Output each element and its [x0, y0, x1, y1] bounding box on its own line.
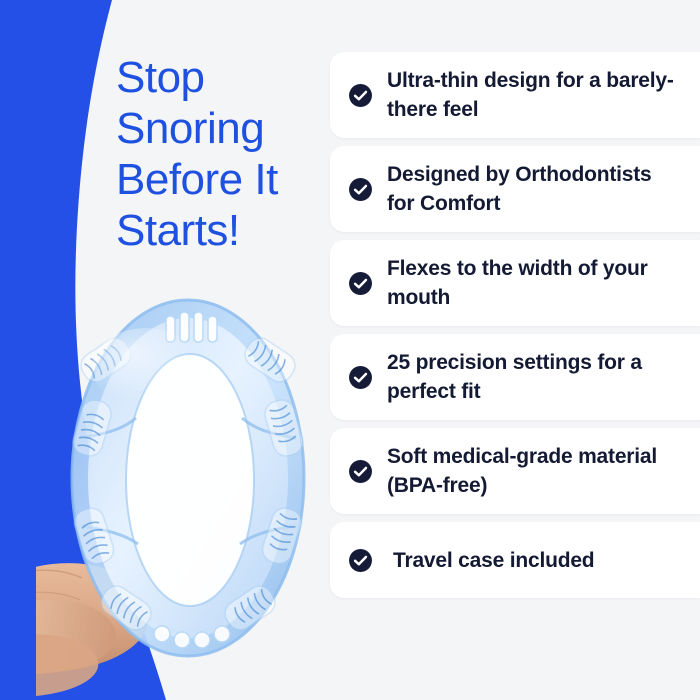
feature-list: Ultra-thin design for a barely-there fee…: [330, 52, 700, 598]
feature-item-precision-settings[interactable]: 25 precision settings for a perfect fit: [330, 334, 700, 420]
check-circle-icon: [348, 83, 373, 108]
feature-label: Flexes to the width of your mouth: [387, 254, 682, 312]
feature-item-medical-grade-material[interactable]: Soft medical-grade material (BPA-free): [330, 428, 700, 514]
feature-item-ultra-thin[interactable]: Ultra-thin design for a barely-there fee…: [330, 52, 700, 138]
promo-canvas: Stop Snoring Before It Starts!: [0, 0, 700, 700]
check-circle-icon: [348, 548, 373, 573]
check-circle-icon: [348, 177, 373, 202]
feature-item-orthodontist-designed[interactable]: Designed by Orthodontists for Comfort: [330, 146, 700, 232]
feature-label: Ultra-thin design for a barely-there fee…: [387, 66, 682, 124]
feature-item-flexes-width[interactable]: Flexes to the width of your mouth: [330, 240, 700, 326]
feature-item-travel-case[interactable]: Travel case included: [330, 522, 700, 598]
check-circle-icon: [348, 365, 373, 390]
check-circle-icon: [348, 459, 373, 484]
feature-label: Designed by Orthodontists for Comfort: [387, 160, 682, 218]
page-title: Stop Snoring Before It Starts!: [116, 52, 336, 256]
check-circle-icon: [348, 271, 373, 296]
feature-label: 25 precision settings for a perfect fit: [387, 348, 682, 406]
feature-label: Travel case included: [387, 546, 594, 575]
feature-label: Soft medical-grade material (BPA-free): [387, 442, 682, 500]
